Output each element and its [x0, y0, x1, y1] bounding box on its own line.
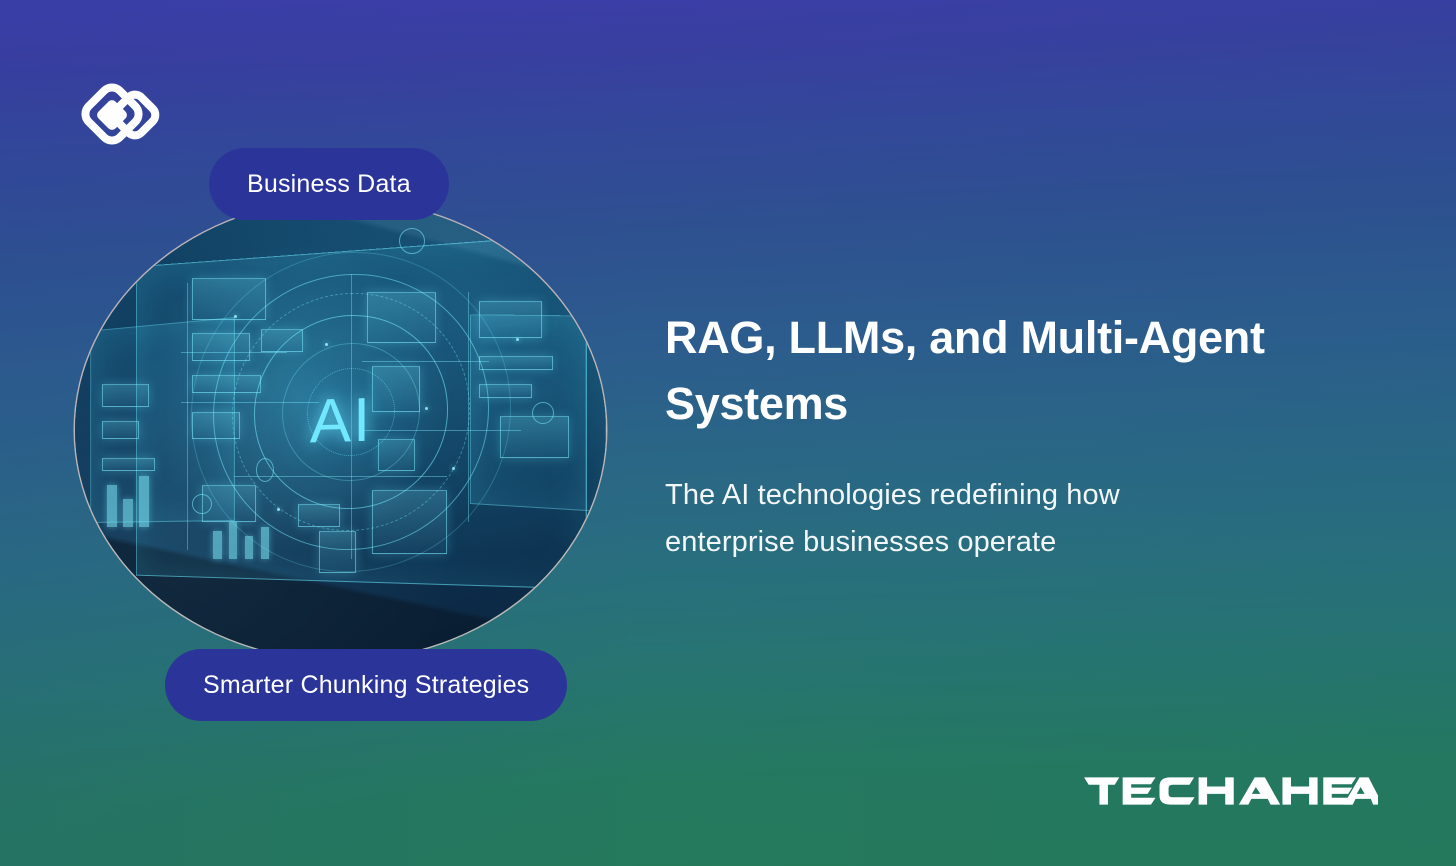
hud-ring-icon	[256, 458, 274, 482]
techahead-wordmark[interactable]	[1083, 774, 1378, 808]
hud-widget	[102, 458, 155, 472]
hud-widget	[378, 439, 415, 471]
hud-ring-icon	[532, 402, 554, 424]
hud-widget	[192, 412, 240, 440]
hologram-artwork: AI	[75, 200, 606, 660]
ai-hologram-circle: AI	[75, 200, 606, 660]
hud-widget	[102, 384, 150, 407]
hud-ring-icon	[399, 228, 425, 254]
hud-node	[452, 467, 455, 470]
hud-bar	[139, 476, 150, 527]
badge-label: Smarter Chunking Strategies	[203, 671, 529, 700]
hud-node	[277, 508, 280, 511]
hud-line	[181, 402, 319, 403]
hud-bar	[229, 522, 237, 559]
hud-bar	[123, 499, 134, 527]
hud-widget	[367, 292, 436, 343]
badge-business-data[interactable]: Business Data	[209, 148, 449, 220]
hud-widget	[102, 421, 139, 439]
hud-node	[516, 338, 519, 341]
ai-overlay-text: AI	[309, 384, 372, 457]
hud-line	[187, 283, 188, 550]
hud-bar	[261, 527, 269, 559]
hud-widget	[479, 356, 553, 370]
slide-canvas: AI	[0, 0, 1456, 866]
hud-line	[362, 430, 521, 431]
hud-line	[468, 292, 469, 522]
hud-line	[181, 352, 287, 353]
hud-bar	[245, 536, 253, 559]
hud-widget	[479, 384, 532, 398]
badge-label: Business Data	[247, 170, 411, 199]
hud-widget	[298, 504, 340, 527]
copy-block: RAG, LLMs, and Multi-Agent Systems The A…	[665, 305, 1345, 566]
hud-bar	[213, 531, 221, 559]
hud-widget	[261, 329, 303, 352]
hud-widget	[372, 366, 420, 412]
hud-node	[325, 343, 328, 346]
hud-bar	[107, 485, 118, 526]
hud-widget	[500, 416, 569, 457]
hud-widget	[479, 301, 543, 338]
badge-smarter-chunking[interactable]: Smarter Chunking Strategies	[165, 649, 567, 721]
hud-widget	[192, 278, 266, 319]
hud-widget	[192, 333, 250, 361]
hud-widget	[192, 375, 261, 393]
page-title: RAG, LLMs, and Multi-Agent Systems	[665, 305, 1345, 436]
hud-widget	[372, 490, 446, 554]
interlocking-diamonds-logo[interactable]	[80, 74, 168, 160]
page-subtitle: The AI technologies redefining how enter…	[665, 472, 1245, 566]
hud-line	[362, 361, 489, 362]
